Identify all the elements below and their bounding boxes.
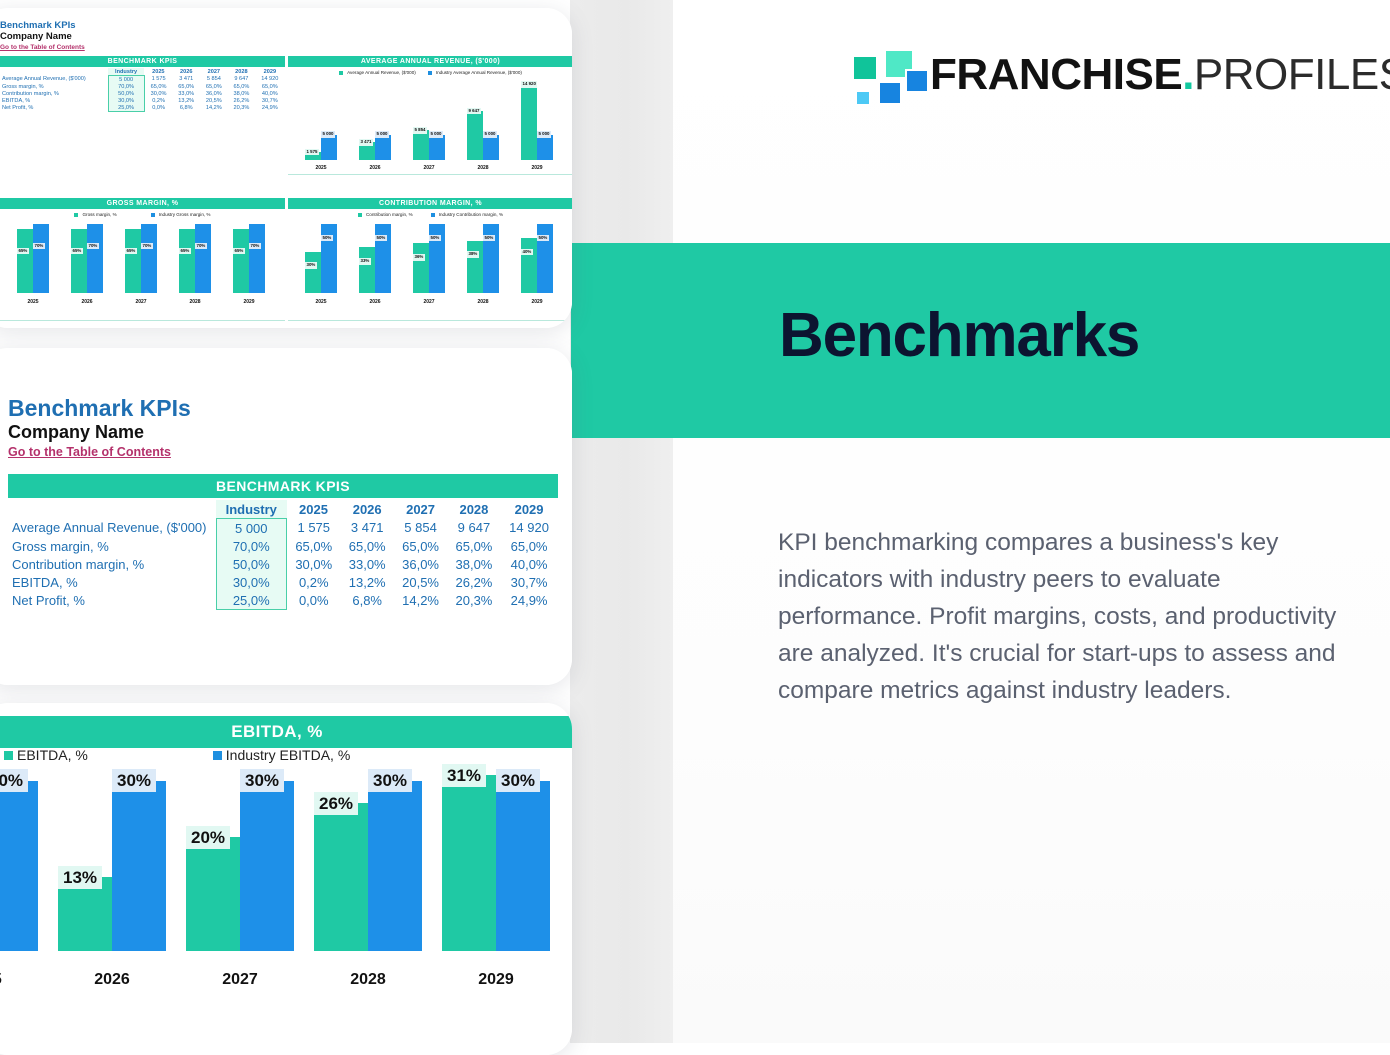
benchmark-kpis-table-card[interactable]: Benchmark KPIs Company Name Go to the Ta… <box>0 348 572 685</box>
cell-2026[interactable]: 65,0% <box>172 83 200 90</box>
cell-2025[interactable]: 0,2% <box>287 573 341 591</box>
x-axis-label-2028: 2028 <box>456 299 510 305</box>
bar-label-contribution-margin-2027-industry: 50% <box>429 235 441 241</box>
bar-label-contribution-margin-2025-company: 30% <box>305 262 317 268</box>
x-axis-label-2029: 2029 <box>510 299 564 305</box>
x-axis-label-2028: 2028 <box>168 299 222 305</box>
legend-label-industry: Industry Contribution margin, % <box>439 212 503 217</box>
legend-swatch-blue <box>428 71 432 75</box>
cell-industry[interactable]: 30,0% <box>216 573 287 591</box>
bar-label-ebitda-2027-company: 20% <box>186 826 230 849</box>
col-header-industry: Industry <box>216 500 287 519</box>
col-header-2026: 2026 <box>172 68 200 76</box>
row-label: Average Annual Revenue, ($'000) <box>0 76 108 84</box>
logo-word-dot: . <box>1182 50 1194 99</box>
bar-label-ebitda-2028-industry: 30% <box>368 769 412 792</box>
cell-industry[interactable]: 5 000 <box>108 76 144 84</box>
bar-ebitda-2027-industry <box>240 781 294 951</box>
bar-avg-annual-revenue-2026-industry <box>375 135 391 160</box>
sheet-title: Benchmark KPIs <box>8 395 191 421</box>
table-header-row: Industry20252026202720282029 <box>8 500 558 519</box>
bar-ebitda-2026-industry <box>112 781 166 951</box>
bar-label-gross-margin-2025-industry: 70% <box>33 243 45 249</box>
legend-swatch-green <box>74 213 78 217</box>
bar-label-ebitda-2029-industry: 30% <box>496 769 540 792</box>
bar-label-gross-margin-2026-industry: 70% <box>87 243 99 249</box>
cell-2028[interactable]: 9 647 <box>447 519 500 538</box>
x-axis-label-2029: 2029 <box>510 165 564 171</box>
mini-chart-contribution-margin-legend: Contribution margin, % Industry Contribu… <box>288 212 572 217</box>
benchmark-sheet: Benchmark KPIs Company Name Go to the Ta… <box>0 348 572 685</box>
cell-2026[interactable]: 33,0% <box>172 90 200 97</box>
cell-2027[interactable]: 20,5% <box>200 97 228 104</box>
mini-sheet-title: Benchmark KPIs <box>0 20 85 31</box>
x-axis-label-2025: 2025 <box>294 165 348 171</box>
legend-label-company: Average Annual Revenue, ($'000) <box>347 70 416 75</box>
bar-gross-margin-2026-industry <box>87 224 103 293</box>
sheet-header: Benchmark KPIs Company Name Go to the Ta… <box>8 395 191 461</box>
legend-label-company: Gross margin, % <box>82 212 116 217</box>
mini-chart-gross-margin-axis <box>0 320 285 321</box>
ebitda-sheet: EBITDA, % EBITDA, % Industry EBITDA, % 0… <box>0 703 572 1055</box>
x-axis-label-2029: 2029 <box>222 299 276 305</box>
cell-2027[interactable]: 14,2% <box>200 104 228 112</box>
logo-word-light: PROFILES <box>1194 50 1390 99</box>
table-row[interactable]: Net Profit, %25,0%0,0%6,8%14,2%20,3%24,9… <box>0 104 285 112</box>
bar-contribution-margin-2026-company <box>359 247 375 293</box>
background-gray-strip <box>570 0 673 1043</box>
bar-label-avg-annual-revenue-2026-industry: 5 000 <box>375 131 389 137</box>
brand-logo: FRANCHISE.PROFILES <box>852 44 1352 106</box>
dashboard-preview-card[interactable]: Benchmark KPIs Company Name Go to the Ta… <box>0 8 572 328</box>
bar-label-ebitda-2026-company: 13% <box>58 866 102 889</box>
cell-2028[interactable]: 65,0% <box>228 83 256 90</box>
body-paragraph: KPI benchmarking compares a business's k… <box>778 524 1358 709</box>
bar-label-contribution-margin-2027-company: 36% <box>413 254 425 260</box>
bar-ebitda-2029-industry <box>496 781 550 951</box>
bar-ebitda-2029-company <box>442 775 496 951</box>
bar-contribution-margin-2025-company <box>305 252 321 293</box>
x-axis-label-2026: 2026 <box>60 299 114 305</box>
bar-label-gross-margin-2025-company: 65% <box>17 248 29 254</box>
mini-chart-avg-revenue-title: AVERAGE ANNUAL REVENUE, ($'000) <box>288 56 572 67</box>
row-label: Average Annual Revenue, ($'000) <box>8 519 216 538</box>
bar-gross-margin-2028-industry <box>195 224 211 293</box>
row-label: EBITDA, % <box>0 97 108 104</box>
cell-2025[interactable]: 0,0% <box>287 591 341 610</box>
bar-ebitda-2027-company <box>186 837 240 951</box>
row-label: Net Profit, % <box>0 104 108 112</box>
cell-2029[interactable]: 30,7% <box>501 573 558 591</box>
legend-swatch-green <box>358 213 362 217</box>
kpi-table[interactable]: Industry20252026202720282029Average Annu… <box>8 500 558 610</box>
col-header-2027: 2027 <box>394 500 447 519</box>
bar-label-avg-annual-revenue-2029-company: 14 920 <box>521 81 537 87</box>
x-axis-label-2028: 2028 <box>304 971 432 989</box>
bar-avg-annual-revenue-2028-company <box>467 111 483 160</box>
cell-2025[interactable]: 30,0% <box>144 90 172 97</box>
bar-gross-margin-2026-company <box>71 229 87 293</box>
ebitda-chart-legend: EBITDA, % Industry EBITDA, % <box>4 747 404 763</box>
bar-avg-annual-revenue-2029-industry <box>537 135 553 160</box>
bar-label-gross-margin-2029-industry: 70% <box>249 243 261 249</box>
mini-chart-contribution-margin-title: CONTRIBUTION MARGIN, % <box>288 198 572 209</box>
col-header-2029: 2029 <box>255 68 284 76</box>
logo-squares-icon <box>852 49 914 101</box>
table-band: BENCHMARK KPIS <box>8 474 558 498</box>
cell-industry[interactable]: 5 000 <box>216 519 287 538</box>
cell-2027[interactable]: 20,5% <box>394 573 447 591</box>
bar-label-ebitda-2029-company: 31% <box>442 764 486 787</box>
table-row[interactable]: EBITDA, %30,0%0,2%13,2%20,5%26,2%30,7% <box>8 573 558 591</box>
col-header-2028: 2028 <box>228 68 256 76</box>
x-axis-label-2026: 2026 <box>348 299 402 305</box>
bar-label-avg-annual-revenue-2027-company: 5 854 <box>413 127 427 133</box>
cell-2025[interactable]: 1 575 <box>144 76 172 84</box>
bar-contribution-margin-2027-company <box>413 243 429 293</box>
x-axis-label-2027: 2027 <box>176 971 304 989</box>
cell-2027[interactable]: 36,0% <box>394 555 447 573</box>
mini-chart-gross-margin[interactable]: GROSS MARGIN, % Gross margin, % Industry… <box>0 198 285 326</box>
bar-label-avg-annual-revenue-2027-industry: 5 000 <box>429 131 443 137</box>
logo-word-bold: FRANCHISE <box>930 50 1182 99</box>
cell-industry[interactable]: 25,0% <box>108 104 144 112</box>
legend-swatch-green <box>4 751 13 760</box>
row-label: Contribution margin, % <box>8 555 216 573</box>
x-axis-label-2026: 2026 <box>48 971 176 989</box>
mini-chart-contribution-margin-axis <box>288 320 572 321</box>
cell-industry[interactable]: 50,0% <box>108 90 144 97</box>
col-header-2028: 2028 <box>447 500 500 519</box>
x-axis-label-2029: 2029 <box>432 971 560 989</box>
bar-avg-annual-revenue-2025-industry <box>321 135 337 160</box>
bar-label-contribution-margin-2028-industry: 50% <box>483 235 495 241</box>
col-header-2025: 2025 <box>144 68 172 76</box>
mini-chart-gross-margin-plot: 65%70%202565%70%202665%70%202765%70%2028… <box>6 224 276 306</box>
bar-label-avg-annual-revenue-2025-company: 1 575 <box>305 149 319 155</box>
bar-gross-margin-2029-industry <box>249 224 265 293</box>
legend-label-company: EBITDA, % <box>17 747 88 763</box>
bar-label-ebitda-2028-company: 26% <box>314 792 358 815</box>
cell-2029[interactable]: 24,9% <box>501 591 558 610</box>
bar-label-avg-annual-revenue-2029-industry: 5 000 <box>537 131 551 137</box>
cell-2029[interactable]: 30,7% <box>255 97 284 104</box>
bar-avg-annual-revenue-2028-industry <box>483 135 499 160</box>
cell-2027[interactable]: 65,0% <box>394 537 447 555</box>
x-axis-label-2027: 2027 <box>402 165 456 171</box>
legend-swatch-blue <box>431 213 435 217</box>
mini-chart-contribution-margin-plot: 30%50%202533%50%202636%50%202738%50%2028… <box>294 224 564 306</box>
cell-2028[interactable]: 38,0% <box>447 555 500 573</box>
cell-2026[interactable]: 13,2% <box>172 97 200 104</box>
mini-chart-contribution-margin[interactable]: CONTRIBUTION MARGIN, % Contribution marg… <box>288 198 572 326</box>
bar-label-ebitda-2027-industry: 30% <box>240 769 284 792</box>
col-header-2029: 2029 <box>501 500 558 519</box>
col-header-2027: 2027 <box>200 68 228 76</box>
mini-sheet-header: Benchmark KPIs Company Name Go to the Ta… <box>0 20 85 53</box>
cell-2027[interactable]: 14,2% <box>394 591 447 610</box>
bar-label-gross-margin-2027-industry: 70% <box>141 243 153 249</box>
page-title: Benchmarks <box>779 305 1139 367</box>
table-row[interactable]: Average Annual Revenue, ($'000)5 0001 57… <box>8 519 558 538</box>
bar-gross-margin-2028-company <box>179 229 195 293</box>
bar-label-ebitda-2026-industry: 30% <box>112 769 156 792</box>
cell-2028[interactable]: 26,2% <box>228 97 256 104</box>
mini-kpi-table[interactable]: Industry20252026202720282029Average Annu… <box>0 68 285 112</box>
col-header-metric <box>0 68 108 76</box>
cell-2029[interactable]: 24,9% <box>255 104 284 112</box>
mini-kpi-table-wrap: BENCHMARK KPIS Industry20252026202720282… <box>0 56 285 112</box>
cell-2026[interactable]: 3 471 <box>341 519 394 538</box>
legend-label-industry: Industry Average Annual Revenue, ($'000) <box>436 70 522 75</box>
bar-label-contribution-margin-2028-company: 38% <box>467 251 479 257</box>
table-row[interactable]: Net Profit, %25,0%0,0%6,8%14,2%20,3%24,9… <box>8 591 558 610</box>
bar-label-contribution-margin-2029-industry: 50% <box>537 235 549 241</box>
x-axis-label-2028: 2028 <box>456 165 510 171</box>
bar-label-gross-margin-2027-company: 65% <box>125 248 137 254</box>
bar-avg-annual-revenue-2029-company <box>521 84 537 160</box>
mini-chart-avg-revenue-legend: Average Annual Revenue, ($'000) Industry… <box>288 70 572 75</box>
cell-2029[interactable]: 14 920 <box>255 76 284 84</box>
table-row[interactable]: Contribution margin, %50,0%30,0%33,0%36,… <box>8 555 558 573</box>
x-axis-label-2027: 2027 <box>402 299 456 305</box>
cell-industry[interactable]: 70,0% <box>216 537 287 555</box>
x-axis-label-2025: 2025 <box>294 299 348 305</box>
bar-label-gross-margin-2029-company: 65% <box>233 248 245 254</box>
bar-label-contribution-margin-2026-company: 33% <box>359 258 371 264</box>
cell-2025[interactable]: 65,0% <box>144 83 172 90</box>
bar-label-contribution-margin-2026-industry: 50% <box>375 235 387 241</box>
table-header-row: Industry20252026202720282029 <box>0 68 285 76</box>
bar-ebitda-2028-company <box>314 803 368 951</box>
cell-2029[interactable]: 65,0% <box>501 537 558 555</box>
bar-label-contribution-margin-2025-industry: 50% <box>321 235 333 241</box>
legend-label-company: Contribution margin, % <box>366 212 413 217</box>
cell-2029[interactable]: 40,0% <box>255 90 284 97</box>
background-right-panel <box>673 0 1390 1043</box>
cell-2028[interactable]: 65,0% <box>447 537 500 555</box>
cell-2027[interactable]: 65,0% <box>200 83 228 90</box>
table-row[interactable]: EBITDA, %30,0%0,2%13,2%20,5%26,2%30,7% <box>0 97 285 104</box>
row-label: Contribution margin, % <box>0 90 108 97</box>
mini-chart-avg-revenue-axis <box>288 174 572 175</box>
bar-gross-margin-2027-company <box>125 229 141 293</box>
cell-2029[interactable]: 14 920 <box>501 519 558 538</box>
sheet-toc-link[interactable]: Go to the Table of Contents <box>8 444 191 461</box>
table-row[interactable]: Gross margin, %70,0%65,0%65,0%65,0%65,0%… <box>8 537 558 555</box>
bar-label-avg-annual-revenue-2028-industry: 5 000 <box>483 131 497 137</box>
ebitda-chart-plot: 0%30%202513%30%202620%30%202726%30%20283… <box>0 775 560 995</box>
bar-avg-annual-revenue-2027-company <box>413 130 429 160</box>
cell-2028[interactable]: 26,2% <box>447 573 500 591</box>
cell-industry[interactable]: 25,0% <box>216 591 287 610</box>
cell-2027[interactable]: 5 854 <box>200 76 228 84</box>
cell-2028[interactable]: 20,3% <box>447 591 500 610</box>
bar-ebitda-2028-industry <box>368 781 422 951</box>
bar-gross-margin-2029-company <box>233 229 249 293</box>
x-axis-label-2026: 2026 <box>348 165 402 171</box>
bar-label-gross-margin-2026-company: 65% <box>71 248 83 254</box>
cell-2025[interactable]: 30,0% <box>287 555 341 573</box>
cell-2028[interactable]: 9 647 <box>228 76 256 84</box>
legend-swatch-blue <box>213 751 222 760</box>
cell-2026[interactable]: 65,0% <box>341 537 394 555</box>
logo-wordmark: FRANCHISE.PROFILES <box>930 53 1390 97</box>
kpi-table-wrap: BENCHMARK KPIS Industry20252026202720282… <box>8 474 558 610</box>
legend-swatch-blue <box>151 213 155 217</box>
bar-label-avg-annual-revenue-2028-company: 9 647 <box>467 108 481 114</box>
cell-2026[interactable]: 3 471 <box>172 76 200 84</box>
bar-label-contribution-margin-2029-company: 40% <box>521 249 533 255</box>
cell-2029[interactable]: 65,0% <box>255 83 284 90</box>
ebitda-chart-title: EBITDA, % <box>0 716 572 748</box>
cell-2026[interactable]: 6,8% <box>172 104 200 112</box>
bar-avg-annual-revenue-2027-industry <box>429 135 445 160</box>
sheet-subtitle: Company Name <box>8 421 191 444</box>
mini-chart-avg-revenue[interactable]: AVERAGE ANNUAL REVENUE, ($'000) Average … <box>288 56 572 186</box>
row-label: Gross margin, % <box>0 83 108 90</box>
cell-industry[interactable]: 70,0% <box>108 83 144 90</box>
bar-label-avg-annual-revenue-2026-company: 3 471 <box>359 139 373 145</box>
table-row[interactable]: Gross margin, %70,0%65,0%65,0%65,0%65,0%… <box>0 83 285 90</box>
mini-sheet-subtitle: Company Name <box>0 31 85 42</box>
bar-ebitda-2025-industry <box>0 781 38 951</box>
cell-industry[interactable]: 50,0% <box>216 555 287 573</box>
mini-chart-avg-revenue-plot: 1 5755 00020253 4715 00020265 8545 00020… <box>294 84 564 172</box>
bar-label-gross-margin-2028-industry: 70% <box>195 243 207 249</box>
bar-gross-margin-2027-industry <box>141 224 157 293</box>
col-header-metric <box>8 500 216 519</box>
cell-2028[interactable]: 38,0% <box>228 90 256 97</box>
bar-label-ebitda-2025-industry: 30% <box>0 769 28 792</box>
cell-2028[interactable]: 20,3% <box>228 104 256 112</box>
row-label: Net Profit, % <box>8 591 216 610</box>
bar-contribution-margin-2028-company <box>467 241 483 293</box>
col-header-industry: Industry <box>108 68 144 76</box>
bar-gross-margin-2025-company <box>17 229 33 293</box>
cell-2025[interactable]: 65,0% <box>287 537 341 555</box>
bar-label-avg-annual-revenue-2025-industry: 5 000 <box>321 131 335 137</box>
col-header-2025: 2025 <box>287 500 341 519</box>
row-label: EBITDA, % <box>8 573 216 591</box>
cell-2026[interactable]: 6,8% <box>341 591 394 610</box>
cell-2027[interactable]: 36,0% <box>200 90 228 97</box>
cell-2026[interactable]: 13,2% <box>341 573 394 591</box>
col-header-2026: 2026 <box>341 500 394 519</box>
cell-2029[interactable]: 40,0% <box>501 555 558 573</box>
x-axis-label-2025: 2025 <box>6 299 60 305</box>
mini-chart-gross-margin-legend: Gross margin, % Industry Gross margin, % <box>0 212 285 217</box>
bar-gross-margin-2025-industry <box>33 224 49 293</box>
mini-sheet-toc-link[interactable]: Go to the Table of Contents <box>0 42 85 53</box>
bar-label-gross-margin-2028-company: 65% <box>179 248 191 254</box>
mini-table-band: BENCHMARK KPIS <box>0 56 285 67</box>
cell-2025[interactable]: 0,2% <box>144 97 172 104</box>
cell-2027[interactable]: 5 854 <box>394 519 447 538</box>
x-axis-label-2027: 2027 <box>114 299 168 305</box>
cell-2025[interactable]: 0,0% <box>144 104 172 112</box>
cell-2026[interactable]: 33,0% <box>341 555 394 573</box>
cell-industry[interactable]: 30,0% <box>108 97 144 104</box>
x-axis-label-2025: 2025 <box>0 971 48 989</box>
legend-swatch-green <box>339 71 343 75</box>
table-row[interactable]: Average Annual Revenue, ($'000)5 0001 57… <box>0 76 285 84</box>
cell-2025[interactable]: 1 575 <box>287 519 341 538</box>
table-row[interactable]: Contribution margin, %50,0%30,0%33,0%36,… <box>0 90 285 97</box>
bar-contribution-margin-2029-company <box>521 238 537 293</box>
legend-label-industry: Industry Gross margin, % <box>159 212 211 217</box>
ebitda-chart-card[interactable]: EBITDA, % EBITDA, % Industry EBITDA, % 0… <box>0 703 572 1055</box>
mini-chart-gross-margin-title: GROSS MARGIN, % <box>0 198 285 209</box>
legend-label-industry: Industry EBITDA, % <box>226 747 350 763</box>
dashboard-sheet: Benchmark KPIs Company Name Go to the Ta… <box>0 8 572 328</box>
row-label: Gross margin, % <box>8 537 216 555</box>
